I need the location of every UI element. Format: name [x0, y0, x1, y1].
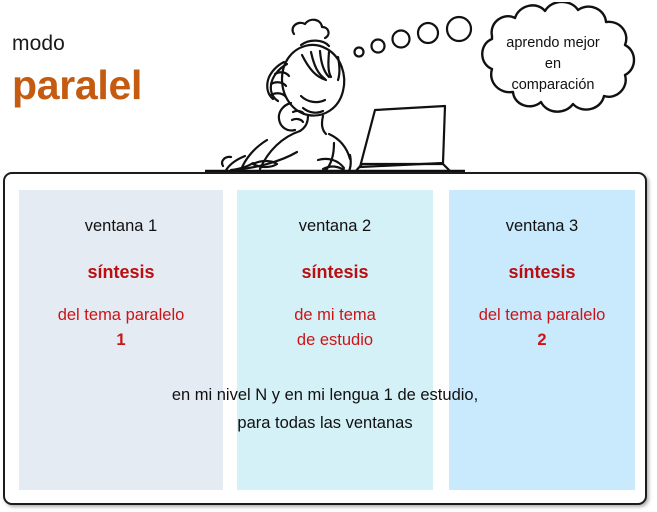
- synthesis-title-3: síntesis: [449, 263, 635, 281]
- window-label-2: ventana 2: [237, 218, 433, 235]
- parallel-mode-card: ventana 1 síntesis del tema paralelo 1 v…: [3, 172, 647, 505]
- mode-value: paralel: [12, 65, 142, 106]
- window-label-1: ventana 1: [19, 218, 223, 235]
- synthesis-title-2: síntesis: [237, 263, 433, 281]
- thought-bubble-line-1: aprendo mejor: [462, 33, 644, 54]
- window-column-1[interactable]: ventana 1 síntesis del tema paralelo 1: [19, 190, 223, 490]
- synthesis-body-3: del tema paralelo 2: [449, 303, 635, 353]
- thought-bubble-text: aprendo mejor en comparación: [462, 33, 644, 96]
- synthesis-body-1-line-2: 1: [19, 328, 223, 353]
- synthesis-title-1: síntesis: [19, 263, 223, 281]
- header: modo paralel: [0, 0, 657, 172]
- synthesis-body-1: del tema paralelo 1: [19, 303, 223, 353]
- synthesis-body-2-line-2: de estudio: [237, 328, 433, 353]
- window-column-3[interactable]: ventana 3 síntesis del tema paralelo 2: [449, 190, 635, 490]
- synthesis-body-2-line-1: de mi tema: [237, 303, 433, 328]
- synthesis-body-3-line-2: 2: [449, 328, 635, 353]
- synthesis-body-3-line-1: del tema paralelo: [449, 303, 635, 328]
- window-columns: ventana 1 síntesis del tema paralelo 1 v…: [5, 174, 649, 507]
- window-label-3: ventana 3: [449, 218, 635, 235]
- synthesis-body-2: de mi tema de estudio: [237, 303, 433, 353]
- window-column-2[interactable]: ventana 2 síntesis de mi tema de estudio: [237, 190, 433, 490]
- thought-bubble-line-2: en: [462, 54, 644, 75]
- thought-bubble-line-3: comparación: [462, 75, 644, 96]
- synthesis-body-1-line-1: del tema paralelo: [19, 303, 223, 328]
- mode-label: modo: [12, 33, 65, 54]
